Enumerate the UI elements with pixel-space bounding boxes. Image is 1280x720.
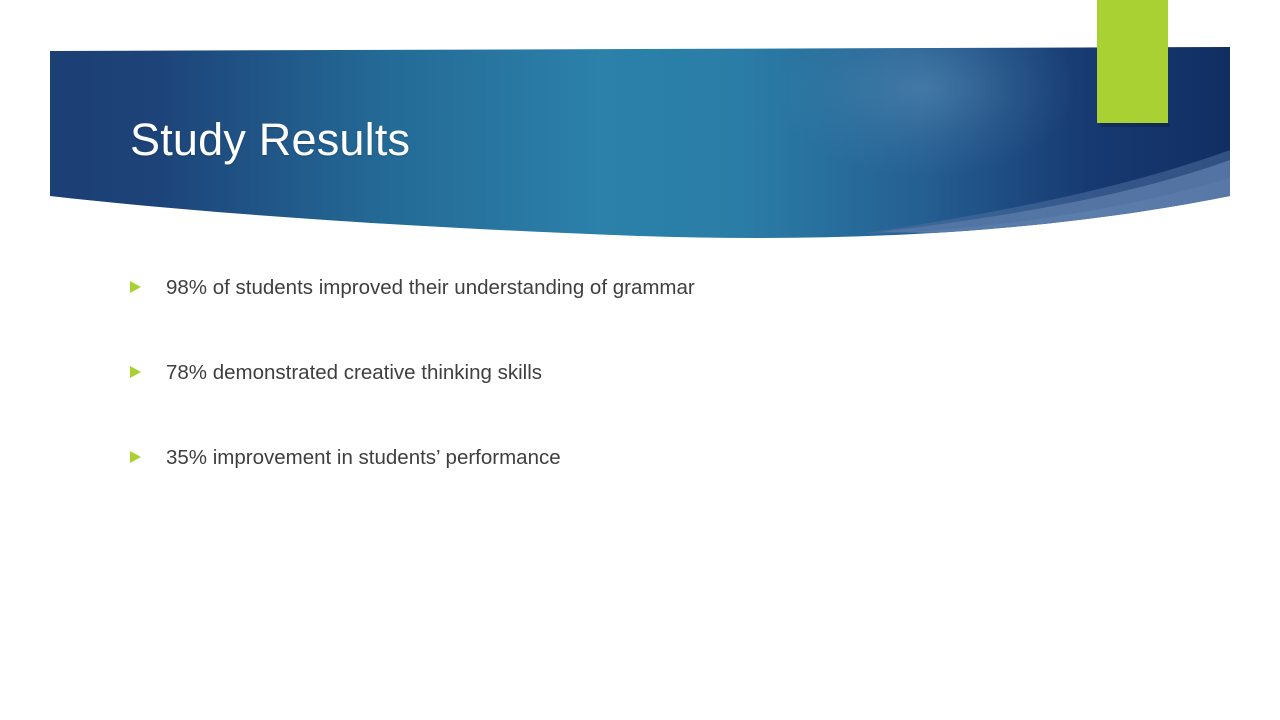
green-accent-block (1097, 0, 1170, 127)
triangle-right-icon (130, 281, 141, 293)
bullet-list: 98% of students improved their understan… (128, 277, 1148, 532)
list-item-label: 78% demonstrated creative thinking skill… (166, 359, 542, 387)
list-item-label: 35% improvement in students’ performance (166, 444, 561, 472)
triangle-right-icon (130, 451, 141, 463)
page-title: Study Results (130, 109, 410, 171)
list-item-label: 98% of students improved their understan… (166, 274, 695, 302)
list-item: 35% improvement in students’ performance (128, 447, 1148, 532)
list-item: 78% demonstrated creative thinking skill… (128, 362, 1148, 447)
presentation-slide: Study Results 98% of students improved t… (0, 0, 1280, 720)
triangle-right-icon (130, 366, 141, 378)
list-item: 98% of students improved their understan… (128, 277, 1148, 362)
